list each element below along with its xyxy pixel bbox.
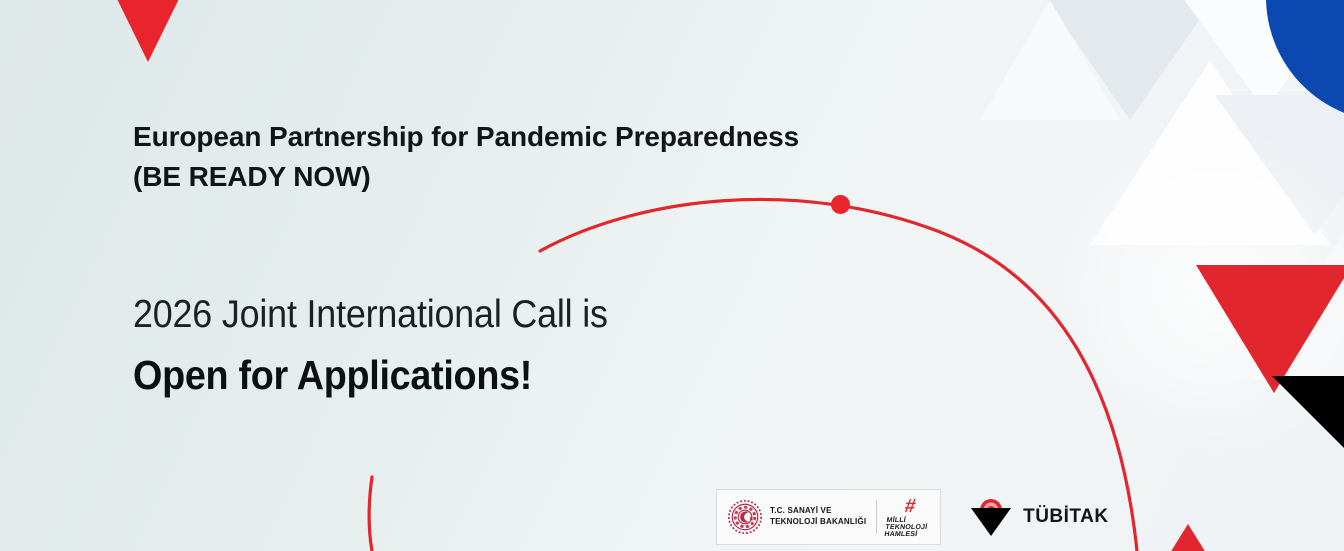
call-to-action-text: Open for Applications! (133, 355, 532, 396)
headline-line-1: European Partnership for Pandemic Prepar… (133, 121, 799, 152)
milli-teknoloji-hamlesi-logo: # MİLLİ TEKNOLOJİ HAMLESİ (884, 497, 932, 538)
hashtag-icon: # (904, 497, 917, 516)
milli-line-3: HAMLESİ (884, 531, 918, 538)
tubitak-logo: TÜBİTAK (967, 497, 1108, 537)
logo-strip: T.C. SANAYİ VE TEKNOLOJİ BAKANLIĞI # MİL… (716, 489, 1109, 545)
campaign-banner: European Partnership for Pandemic Prepar… (0, 0, 1344, 551)
ministry-text-line-1: T.C. SANAYİ VE (770, 506, 866, 517)
red-arc-endpoint-dot (831, 195, 850, 214)
turkish-ministry-crest-icon (728, 500, 762, 534)
ministry-logo-text: T.C. SANAYİ VE TEKNOLOJİ BAKANLIĞI (770, 506, 866, 528)
ministry-logo: T.C. SANAYİ VE TEKNOLOJİ BAKANLIĞI # MİL… (716, 489, 941, 545)
red-arc-decoration (0, 0, 1344, 551)
call-subtitle: 2026 Joint International Call is (133, 295, 608, 334)
tubitak-wordmark: TÜBİTAK (1023, 506, 1108, 528)
milli-line-2: TEKNOLOJİ (885, 524, 928, 531)
page-title: European Partnership for Pandemic Prepar… (133, 117, 799, 197)
milli-line-1: MİLLİ (886, 517, 906, 524)
headline-line-2: (BE READY NOW) (133, 157, 799, 197)
ministry-text-line-2: TEKNOLOJİ BAKANLIĞI (770, 517, 866, 528)
logo-divider (876, 500, 877, 534)
tubitak-mark-icon (967, 497, 1013, 537)
